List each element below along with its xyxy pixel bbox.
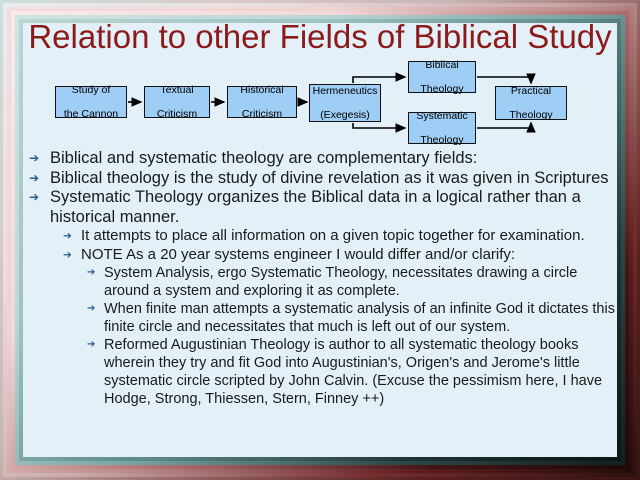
slide-frame: Relation to other Fields of Biblical Stu… [0,0,640,480]
node-line-1: Study of [62,84,120,96]
node-line-1: Textual [155,84,199,96]
node-line-2: Theology [414,134,469,146]
bullet-level1-item: Biblical theology is the study of divine… [29,169,617,189]
node-biblical-theology: Biblical Theology [408,61,476,93]
bullet-level3-item: System Analysis, ergo Systematic Theolog… [85,264,617,300]
node-systematic-theology: Systematic Theology [408,112,476,144]
node-hermeneutics-exegesis: Hermeneutics (Exegesis) [309,84,381,122]
slide-canvas: Relation to other Fields of Biblical Stu… [23,23,617,457]
node-line-1: Systematic [414,110,469,122]
node-line-1: Historical [238,84,285,96]
node-practical-theology: Practical Theology [495,86,567,120]
node-line-2: Criticism [238,108,285,120]
node-line-2: Theology [418,83,465,95]
node-study-of-the-cannon: Study of the Cannon [55,86,127,118]
node-textual-criticism: Textual Criticism [144,86,210,118]
bullet-level1-item: Biblical and systematic theology are com… [29,149,617,169]
node-line-2: Theology [507,109,554,121]
bullet-level3-item: When finite man attempts a systematic an… [85,300,617,336]
bullet-level2-item: NOTE As a 20 year systems engineer I wou… [61,246,617,265]
bullet-list: Biblical and systematic theology are com… [23,149,617,408]
bullet-level1-item: Systematic Theology organizes the Biblic… [29,188,617,227]
bullet-level2-item: It attempts to place all information on … [61,227,617,246]
node-line-1: Biblical [418,59,465,71]
bullet-level3-item: Reformed Augustinian Theology is author … [85,336,617,408]
node-line-2: (Exegesis) [311,109,380,121]
node-line-1: Practical [507,85,554,97]
node-line-1: Hermeneutics [311,85,380,97]
flow-diagram: Study of the Cannon Textual Criticism Hi… [23,23,617,138]
node-historical-criticism: Historical Criticism [227,86,297,118]
node-line-2: Criticism [155,108,199,120]
node-line-2: the Cannon [62,108,120,120]
